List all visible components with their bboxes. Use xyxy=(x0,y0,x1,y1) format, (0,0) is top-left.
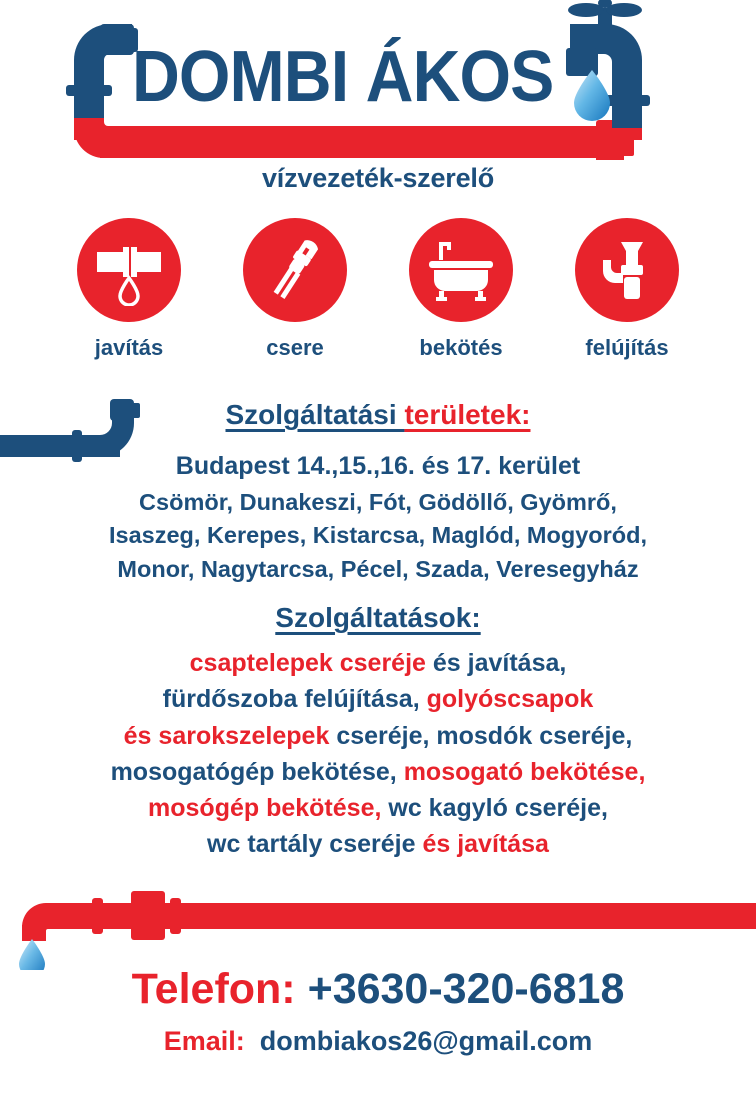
services-line-segment: wc kagyló cseréje, xyxy=(388,794,608,822)
logo-wordmark: DOMBI ÁKOS xyxy=(132,37,537,117)
services-line-segment: és sarokszelepek xyxy=(124,722,337,750)
logo-subtitle: vízvezeték-szerelő xyxy=(0,163,756,194)
leaking-pipe-icon xyxy=(93,234,165,306)
phone-label: Telefon: xyxy=(132,965,296,1013)
services-line-segment: mosogatógép bekötése, xyxy=(111,758,404,786)
service-icon-label: javítás xyxy=(95,335,164,361)
areas-towns-list: Csömör, Dunakeszi, Fót, Gödöllő, Gyömrő,… xyxy=(0,486,756,586)
icon-circle xyxy=(77,218,181,322)
services-line-segment: és javítása xyxy=(422,830,549,858)
services-heading: Szolgáltatások: xyxy=(0,602,756,634)
services-line-segment: fürdőszoba felújítása, xyxy=(163,685,427,713)
services-list: csaptelepek cseréje és javítása,fürdőszo… xyxy=(0,645,756,863)
services-line-segment: mosógép bekötése, xyxy=(148,794,388,822)
services-line: mosogatógép bekötése, mosogató bekötése, xyxy=(0,754,756,790)
service-icon-bekotes[interactable]: bekötés xyxy=(402,218,520,373)
email-label: Email: xyxy=(164,1026,245,1056)
services-line-segment: golyóscsapok xyxy=(427,685,594,713)
logo-block: DOMBI ÁKOS vízvezeték-szerelő xyxy=(0,0,756,205)
services-line: wc tartály cseréje és javítása xyxy=(0,826,756,862)
phone-line[interactable]: Telefon: +3630-320-6818 xyxy=(0,965,756,1014)
services-line-segment: csaptelepek cseréje xyxy=(190,649,433,677)
icon-circle xyxy=(575,218,679,322)
red-pipe-bar xyxy=(100,126,610,158)
phone-value[interactable]: +3630-320-6818 xyxy=(308,965,625,1013)
email-value[interactable]: dombiakos26@gmail.com xyxy=(260,1026,592,1056)
areas-budapest: Budapest 14.,15.,16. és 17. kerület xyxy=(0,452,756,481)
services-line-segment: mosogató bekötése, xyxy=(404,758,646,786)
bottom-pipe-decoration-icon xyxy=(0,885,756,970)
bathtub-icon xyxy=(425,234,497,306)
email-line[interactable]: Email: dombiakos26@gmail.com xyxy=(0,1026,756,1057)
icon-circle xyxy=(243,218,347,322)
services-line-segment: wc tartály cseréje xyxy=(207,830,422,858)
pipe-coupling-block xyxy=(131,891,165,940)
service-icon-felujitas[interactable]: felújítás xyxy=(568,218,686,373)
services-line-segment: és javítása, xyxy=(433,649,566,677)
areas-heading-part2: területek: xyxy=(404,399,530,430)
services-line-segment: cseréje, mosdók cseréje, xyxy=(336,722,632,750)
pipe-wrench-icon xyxy=(259,234,331,306)
water-drop-icon xyxy=(574,70,610,121)
service-icon-label: bekötés xyxy=(419,335,502,361)
areas-town-line: Monor, Nagytarcsa, Pécel, Szada, Vereseg… xyxy=(0,553,756,586)
areas-town-line: Csömör, Dunakeszi, Fót, Gödöllő, Gyömrő, xyxy=(0,486,756,519)
services-line: és sarokszelepek cseréje, mosdók cseréje… xyxy=(0,718,756,754)
flyer-poster: DOMBI ÁKOS vízvezeték-szerelő javítás xyxy=(0,0,756,1098)
service-icon-javitas[interactable]: javítás xyxy=(70,218,188,373)
service-icon-row: javítás csere xyxy=(0,218,756,373)
service-icon-csere[interactable]: csere xyxy=(236,218,354,373)
areas-town-line: Isaszeg, Kerepes, Kistarcsa, Maglód, Mog… xyxy=(0,519,756,552)
services-heading-text: Szolgáltatások: xyxy=(275,602,480,633)
left-pipe-icon xyxy=(66,24,138,118)
services-line: csaptelepek cseréje és javítása, xyxy=(0,645,756,681)
service-icon-label: csere xyxy=(266,335,324,361)
areas-heading: Szolgáltatási területek: xyxy=(0,399,756,431)
icon-circle xyxy=(409,218,513,322)
pipe-trap-icon xyxy=(591,234,663,306)
services-line: fürdőszoba felújítása, golyóscsapok xyxy=(0,681,756,717)
services-line: mosógép bekötése, wc kagyló cseréje, xyxy=(0,790,756,826)
faucet-icon xyxy=(566,0,642,78)
service-icon-label: felújítás xyxy=(585,335,668,361)
areas-heading-part1: Szolgáltatási xyxy=(226,399,405,430)
